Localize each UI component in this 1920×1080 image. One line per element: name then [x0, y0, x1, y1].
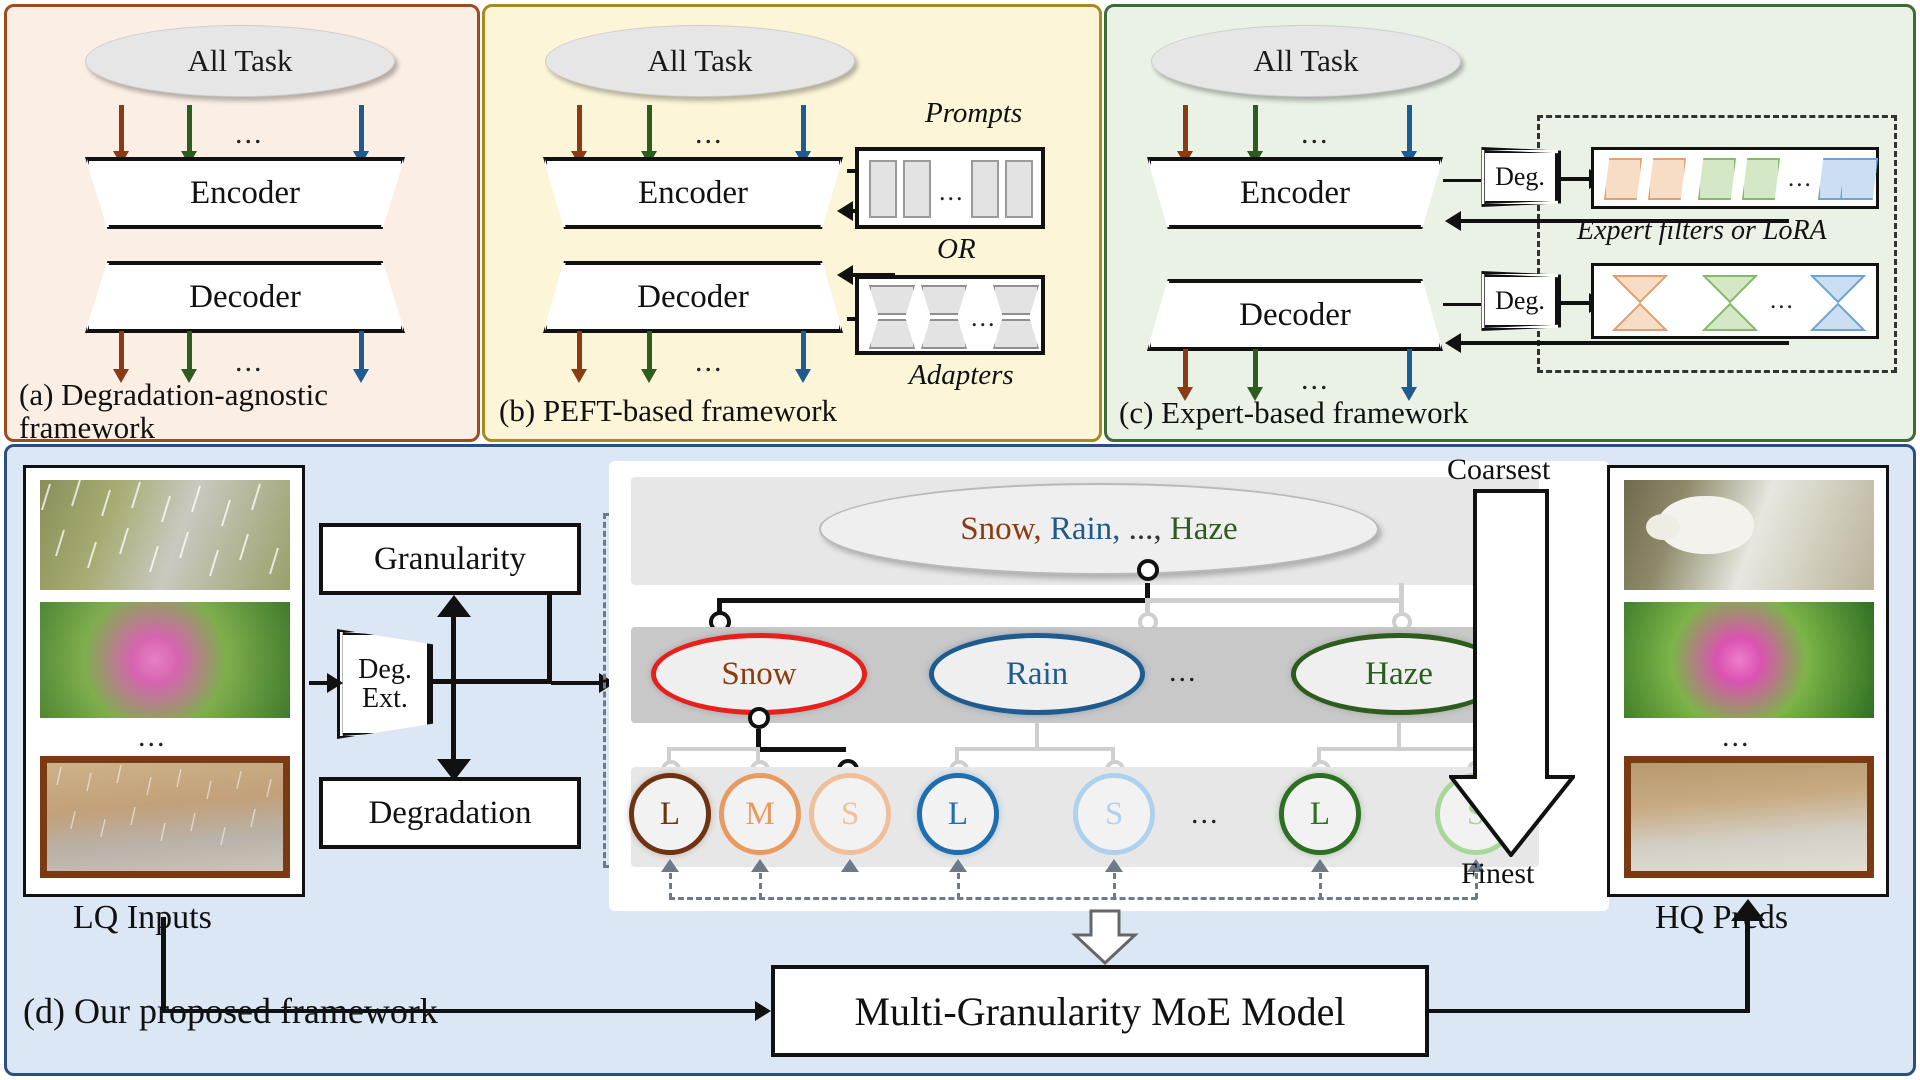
decoder-block-a: Decoder	[85, 261, 405, 333]
lq-photo-rain-scene	[40, 756, 290, 878]
ellipsis-in-b: ...	[695, 119, 724, 149]
decoder-label-b: Decoder	[637, 279, 749, 316]
moe-to-hq-line	[1429, 1009, 1749, 1013]
down-arrow-head	[437, 757, 471, 781]
task-arrow-green-in-b	[647, 105, 652, 165]
encoder-block-b: Encoder	[543, 157, 843, 229]
conn-haze-down	[1397, 723, 1401, 749]
all-task-ellipse-c: All Task	[1151, 25, 1461, 97]
degext-output-line	[431, 679, 551, 684]
panel-degradation-agnostic: All Task ... Encoder Decoder ... (a) Deg…	[4, 4, 480, 442]
deg-ext-line2: Ext.	[362, 684, 408, 713]
panel-expert-based: All Task ... Encoder Decoder Deg. Deg.	[1104, 4, 1916, 442]
feed-arrow-rain-L	[949, 859, 967, 872]
encoder-label-a: Encoder	[190, 175, 300, 212]
adapter-shape	[993, 285, 1039, 315]
prompt-bar	[869, 160, 897, 218]
feed-arrow-snow-L	[661, 859, 679, 872]
granularity-feedback-line	[547, 595, 552, 683]
granularity-direction-arrow	[1449, 489, 1575, 857]
level2-node-rain: Rain	[929, 633, 1145, 715]
level3-node-snow-L: L	[629, 773, 711, 855]
moe-model-box: Multi-Granularity MoE Model	[771, 965, 1429, 1057]
deg-ext-block: Deg. Ext.	[337, 629, 433, 739]
lora-to-decoder-arrow	[1459, 341, 1789, 345]
decoder-label-a: Decoder	[189, 279, 301, 316]
level3-label-haze-L: L	[1310, 796, 1330, 833]
granularity-box: Granularity	[319, 523, 581, 595]
encoder-block-a: Encoder	[85, 157, 405, 229]
adapters-ellipsis: ...	[971, 305, 997, 331]
figure-root: All Task ... Encoder Decoder ... (a) Deg…	[0, 0, 1920, 1080]
hq-photo-bear	[1624, 480, 1874, 590]
ellipsis-out-b: ...	[695, 347, 724, 377]
lq-inputs-label: LQ Inputs	[73, 899, 212, 937]
deg-to-filters-arrow	[1559, 177, 1591, 181]
feed-arrow-haze-L	[1311, 859, 1329, 872]
moe-model-label: Multi-Granularity MoE Model	[854, 988, 1345, 1035]
deg-block-decoder-c: Deg.	[1479, 271, 1561, 331]
lora-hourglass-shape	[1810, 274, 1866, 332]
deg-block-encoder-c: Deg.	[1479, 147, 1561, 207]
dashed-control-spine	[603, 513, 606, 867]
expert-filter-shape	[1840, 158, 1878, 200]
level3-node-rain-S: S	[1073, 773, 1155, 855]
expert-filter-shape	[1648, 158, 1686, 200]
level3-label-rain-S: S	[1105, 796, 1123, 833]
level2-ellipsis: ...	[1169, 657, 1198, 687]
conn-snow-down	[756, 729, 761, 749]
prompts-label: Prompts	[925, 97, 1022, 130]
feed-line-rain-L	[957, 873, 960, 899]
level3-ellipsis: ...	[1191, 799, 1220, 829]
deg-label: Deg.	[1495, 286, 1545, 316]
hq-preds-frame: ...	[1607, 465, 1889, 897]
prompt-bar	[1005, 160, 1033, 218]
task-arrow-blue-out-c	[1407, 349, 1412, 401]
conn-l1-bus-light	[1145, 598, 1403, 603]
level3-label-snow-S: S	[841, 796, 859, 833]
task-arrow-brown-in-c	[1183, 105, 1188, 165]
panel-caption-c: (c) Expert-based framework	[1119, 397, 1468, 430]
feed-arrow-rain-S	[1105, 859, 1123, 872]
lq-ellipsis: ...	[138, 722, 167, 752]
degradation-label: Degradation	[368, 795, 531, 832]
up-arrow-head	[437, 595, 471, 619]
ellipsis-out-c: ...	[1301, 365, 1330, 395]
encoder-block-c: Encoder	[1147, 157, 1443, 229]
deg-to-lora-arrow	[1559, 301, 1591, 305]
adapter-shape	[921, 285, 967, 315]
level3-label-rain-L: L	[948, 796, 968, 833]
deg-label: Deg.	[1495, 162, 1545, 192]
conn-l1-bus	[717, 598, 1151, 603]
lora-ellipsis: ...	[1770, 288, 1795, 313]
feed-line-haze-L	[1319, 873, 1322, 899]
all-task-label-c: All Task	[1254, 43, 1359, 79]
deg-ext-line1: Deg.	[358, 655, 412, 684]
expert-filters-box: ...	[1591, 147, 1879, 209]
level3-node-snow-M: M	[719, 773, 801, 855]
adapter-shape	[993, 319, 1039, 349]
expert-filters-caption: Expert filters or LoRA	[1577, 215, 1827, 247]
hq-photo-scene	[1624, 756, 1874, 878]
conn-snow-bus	[756, 747, 846, 752]
decoder-block-b: Decoder	[543, 261, 843, 333]
degradation-box: Degradation	[319, 777, 581, 849]
granularity-to-levels-arrow	[551, 681, 601, 685]
lora-hourglass-shape	[1612, 274, 1668, 332]
task-arrow-green-out-b	[647, 331, 652, 383]
ellipsis-in-c: ...	[1301, 119, 1330, 149]
panel-peft-based: All Task ... Encoder Decoder Prompts ...…	[482, 4, 1102, 442]
encoder-label-c: Encoder	[1240, 175, 1350, 212]
encoder-deg-line	[1443, 179, 1481, 182]
granularity-degradation-link	[451, 599, 456, 777]
ellipsis-in-a: ...	[235, 119, 264, 149]
hierarchy-panel: Snow, Rain, ..., Haze Snow Rain	[609, 461, 1609, 911]
adapter-shape	[921, 319, 967, 349]
encoder-label-b: Encoder	[638, 175, 748, 212]
or-label: OR	[937, 233, 976, 266]
level1-item-haze: Haze	[1170, 511, 1238, 548]
adapters-label: Adapters	[909, 359, 1014, 392]
level2-label-haze: Haze	[1365, 656, 1433, 693]
adapter-shape	[869, 285, 915, 315]
expert-filter-shape	[1604, 158, 1642, 200]
panel-caption-d: (d) Our proposed framework	[23, 993, 438, 1031]
task-arrow-blue-in-c	[1407, 105, 1412, 165]
feed-arrow-snow-M	[751, 859, 769, 872]
task-arrow-brown-in-a	[119, 105, 124, 165]
lq-inputs-frame: ...	[23, 465, 305, 897]
prompt-bar	[971, 160, 999, 218]
granularity-label: Granularity	[374, 541, 526, 578]
task-arrow-brown-out-a	[119, 331, 124, 383]
prompts-ellipsis: ...	[939, 179, 965, 205]
all-task-label-b: All Task	[648, 43, 753, 79]
task-arrow-blue-out-b	[801, 331, 806, 383]
task-arrow-green-out-a	[187, 331, 192, 383]
level2-node-snow: Snow	[651, 633, 867, 715]
task-arrow-brown-out-b	[577, 331, 582, 383]
level3-node-snow-S: S	[809, 773, 891, 855]
all-task-label-a: All Task	[188, 43, 293, 79]
prompt-bar	[903, 160, 931, 218]
decoder-deg-line	[1443, 303, 1481, 306]
hierarchy-to-moe-arrow	[1071, 909, 1139, 965]
ellipsis-out-a: ...	[235, 347, 264, 377]
adapters-box: ...	[855, 275, 1045, 355]
knob-snow-bottom	[748, 707, 770, 729]
lq-to-degext-arrow	[309, 681, 329, 685]
lq-photo-flower	[40, 602, 290, 718]
lq-photo-snow	[40, 480, 290, 590]
hq-preds-label: HQ Preds	[1655, 899, 1788, 937]
conn-rain-bus	[955, 747, 1115, 751]
level3-node-rain-L: L	[917, 773, 999, 855]
task-arrow-blue-in-b	[801, 105, 806, 165]
lora-box: ...	[1591, 263, 1879, 339]
decoder-block-c: Decoder	[1147, 279, 1443, 351]
knob-level1-root	[1137, 559, 1159, 581]
adapter-shape	[869, 319, 915, 349]
level1-item-snow: Snow,	[960, 511, 1041, 548]
feed-line-snow-L	[669, 873, 672, 899]
task-arrow-green-in-a	[187, 105, 192, 165]
task-arrow-brown-in-b	[577, 105, 582, 165]
all-task-ellipse-b: All Task	[545, 25, 855, 97]
level1-item-rain: Rain,	[1050, 511, 1121, 548]
feed-line-snow-M	[759, 873, 762, 899]
level3-node-haze-L: L	[1279, 773, 1361, 855]
feed-bus-line	[669, 897, 1477, 900]
level2-label-snow: Snow	[721, 656, 796, 693]
level2-label-rain: Rain	[1006, 656, 1068, 693]
panel-caption-b: (b) PEFT-based framework	[499, 395, 837, 428]
prompts-box: ...	[855, 147, 1045, 229]
task-arrow-green-out-c	[1253, 349, 1258, 401]
hq-ellipsis: ...	[1722, 722, 1751, 752]
lora-hourglass-shape	[1702, 274, 1758, 332]
task-arrow-brown-out-c	[1183, 349, 1188, 401]
expert-filter-shape	[1742, 158, 1780, 200]
conn-rain-down	[1035, 723, 1039, 749]
feed-arrow-snow-S	[841, 859, 859, 872]
level3-label-snow-M: M	[745, 796, 774, 833]
panel-caption-a: (a) Degradation-agnostic framework	[19, 379, 471, 444]
task-arrow-blue-out-a	[359, 331, 364, 383]
panel-proposed-framework: ... LQ Inputs Gr	[4, 444, 1916, 1076]
feed-line-rain-S	[1113, 873, 1116, 899]
level3-label-snow-L: L	[660, 796, 680, 833]
expert-filters-ellipsis: ...	[1788, 166, 1813, 191]
decoder-label-c: Decoder	[1239, 297, 1351, 334]
coarsest-label: Coarsest	[1447, 453, 1550, 487]
hq-photo-flower	[1624, 602, 1874, 718]
finest-label: Finest	[1461, 857, 1534, 891]
expert-filter-shape	[1698, 158, 1736, 200]
all-task-ellipse-a: All Task	[85, 25, 395, 97]
task-arrow-green-in-c	[1253, 105, 1258, 165]
conn-snow-bus-light	[667, 747, 759, 751]
level1-item-ellipsis: ...,	[1129, 511, 1162, 548]
task-arrow-blue-in-a	[359, 105, 364, 165]
level1-ellipse: Snow, Rain, ..., Haze	[819, 483, 1379, 575]
